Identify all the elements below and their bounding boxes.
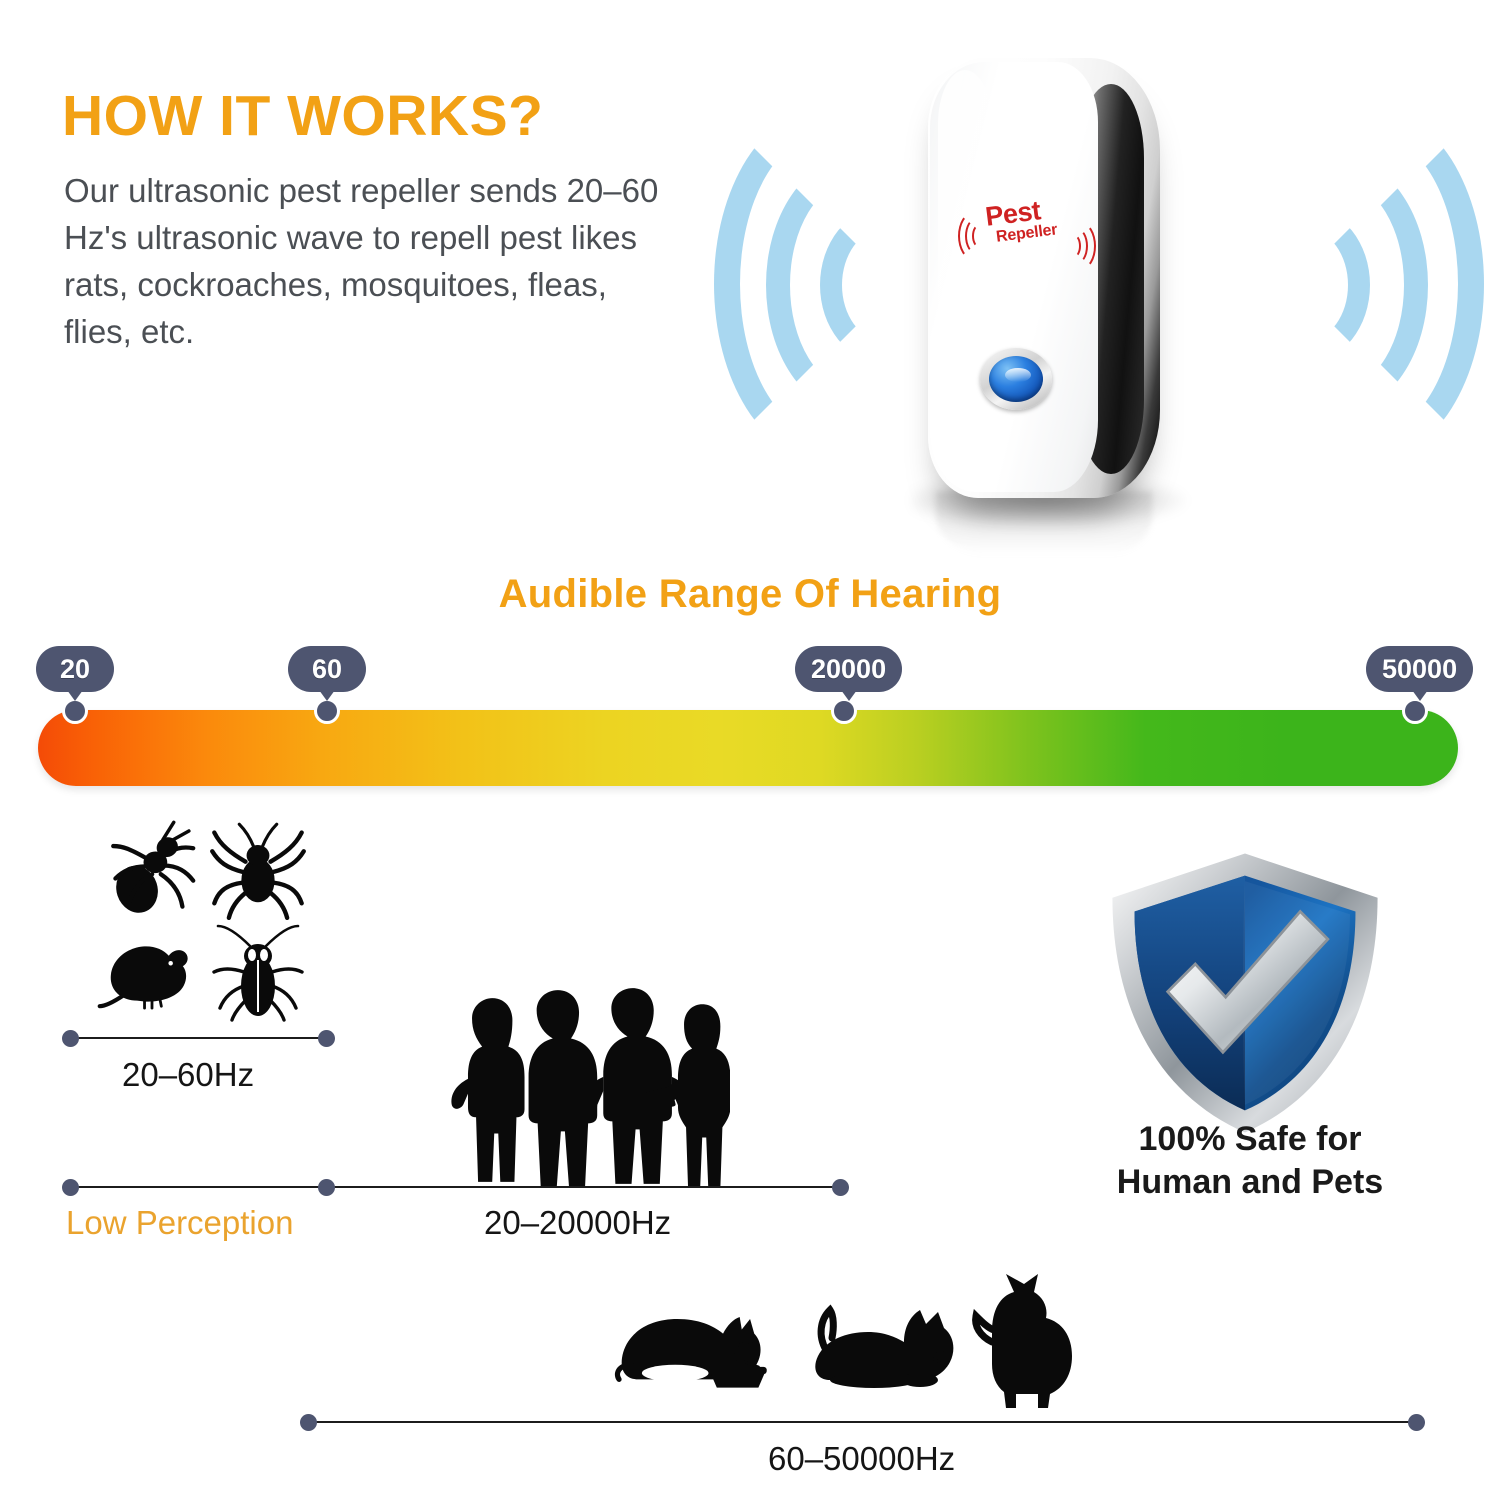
device-indicator-led <box>989 356 1043 402</box>
sound-wave-right-inner <box>1246 208 1370 362</box>
logo-wave-right-3 <box>1066 234 1081 258</box>
human-range-dot-start <box>62 1179 79 1196</box>
pets-range-label: 60–50000Hz <box>768 1440 955 1478</box>
spider-icon <box>206 818 310 922</box>
pest-range-line <box>70 1037 326 1039</box>
pest-repeller-device: Pest Repeller <box>928 58 1160 498</box>
human-range-label: 20–20000Hz <box>484 1204 671 1242</box>
ant-icon <box>96 818 204 926</box>
page-title: HOW IT WORKS? <box>62 88 543 145</box>
safety-claim-line2: Human and Pets <box>1060 1161 1440 1204</box>
cat-eating-icon <box>612 1292 780 1396</box>
human-range-dot-end <box>832 1179 849 1196</box>
frequency-badge-50000[interactable]: 50000 <box>1366 646 1473 692</box>
frequency-tick-20000 <box>831 698 857 724</box>
device-reflection <box>936 492 1152 556</box>
shield-check-icon <box>1100 848 1390 1138</box>
infographic-canvas: HOW IT WORKS? Our ultrasonic pest repell… <box>0 0 1500 1500</box>
device-indicator-highlight <box>1005 368 1031 382</box>
pest-repeller-logo: Pest Repeller <box>956 200 1096 272</box>
pest-range-label: 20–60Hz <box>122 1056 254 1094</box>
frequency-badge-20000[interactable]: 20000 <box>795 646 902 692</box>
pets-range-dot-end <box>1408 1414 1425 1431</box>
how-it-works-description: Our ultrasonic pest repeller sends 20–60… <box>64 168 674 355</box>
dog-lying-icon <box>800 1288 968 1398</box>
frequency-badge-20[interactable]: 20 <box>36 646 114 692</box>
safety-claim: 100% Safe for Human and Pets <box>1060 1118 1440 1204</box>
rat-icon <box>96 920 208 1014</box>
human-range-line <box>70 1186 840 1188</box>
pets-range-dot-start <box>300 1414 317 1431</box>
cat-standing-icon <box>968 1272 1078 1412</box>
cockroach-icon <box>206 916 310 1026</box>
frequency-tick-20 <box>62 698 88 724</box>
frequency-tick-50000 <box>1402 698 1428 724</box>
sound-wave-left-inner <box>820 208 944 362</box>
pest-range-dot-end <box>318 1030 335 1047</box>
logo-wave-left-3 <box>972 224 987 248</box>
frequency-tick-60 <box>314 698 340 724</box>
pest-range-dot-start <box>62 1030 79 1047</box>
human-silhouettes-icon <box>420 980 730 1192</box>
frequency-gradient-bar <box>38 710 1458 786</box>
frequency-badge-60[interactable]: 60 <box>288 646 366 692</box>
low-perception-label: Low Perception <box>66 1204 293 1242</box>
audible-range-title: Audible Range Of Hearing <box>0 572 1500 617</box>
human-range-dot-mid <box>318 1179 335 1196</box>
device-illustration: Pest Repeller <box>700 30 1490 550</box>
pets-range-line <box>308 1421 1416 1423</box>
safety-claim-line1: 100% Safe for <box>1060 1118 1440 1161</box>
device-indicator-button[interactable] <box>980 348 1052 410</box>
